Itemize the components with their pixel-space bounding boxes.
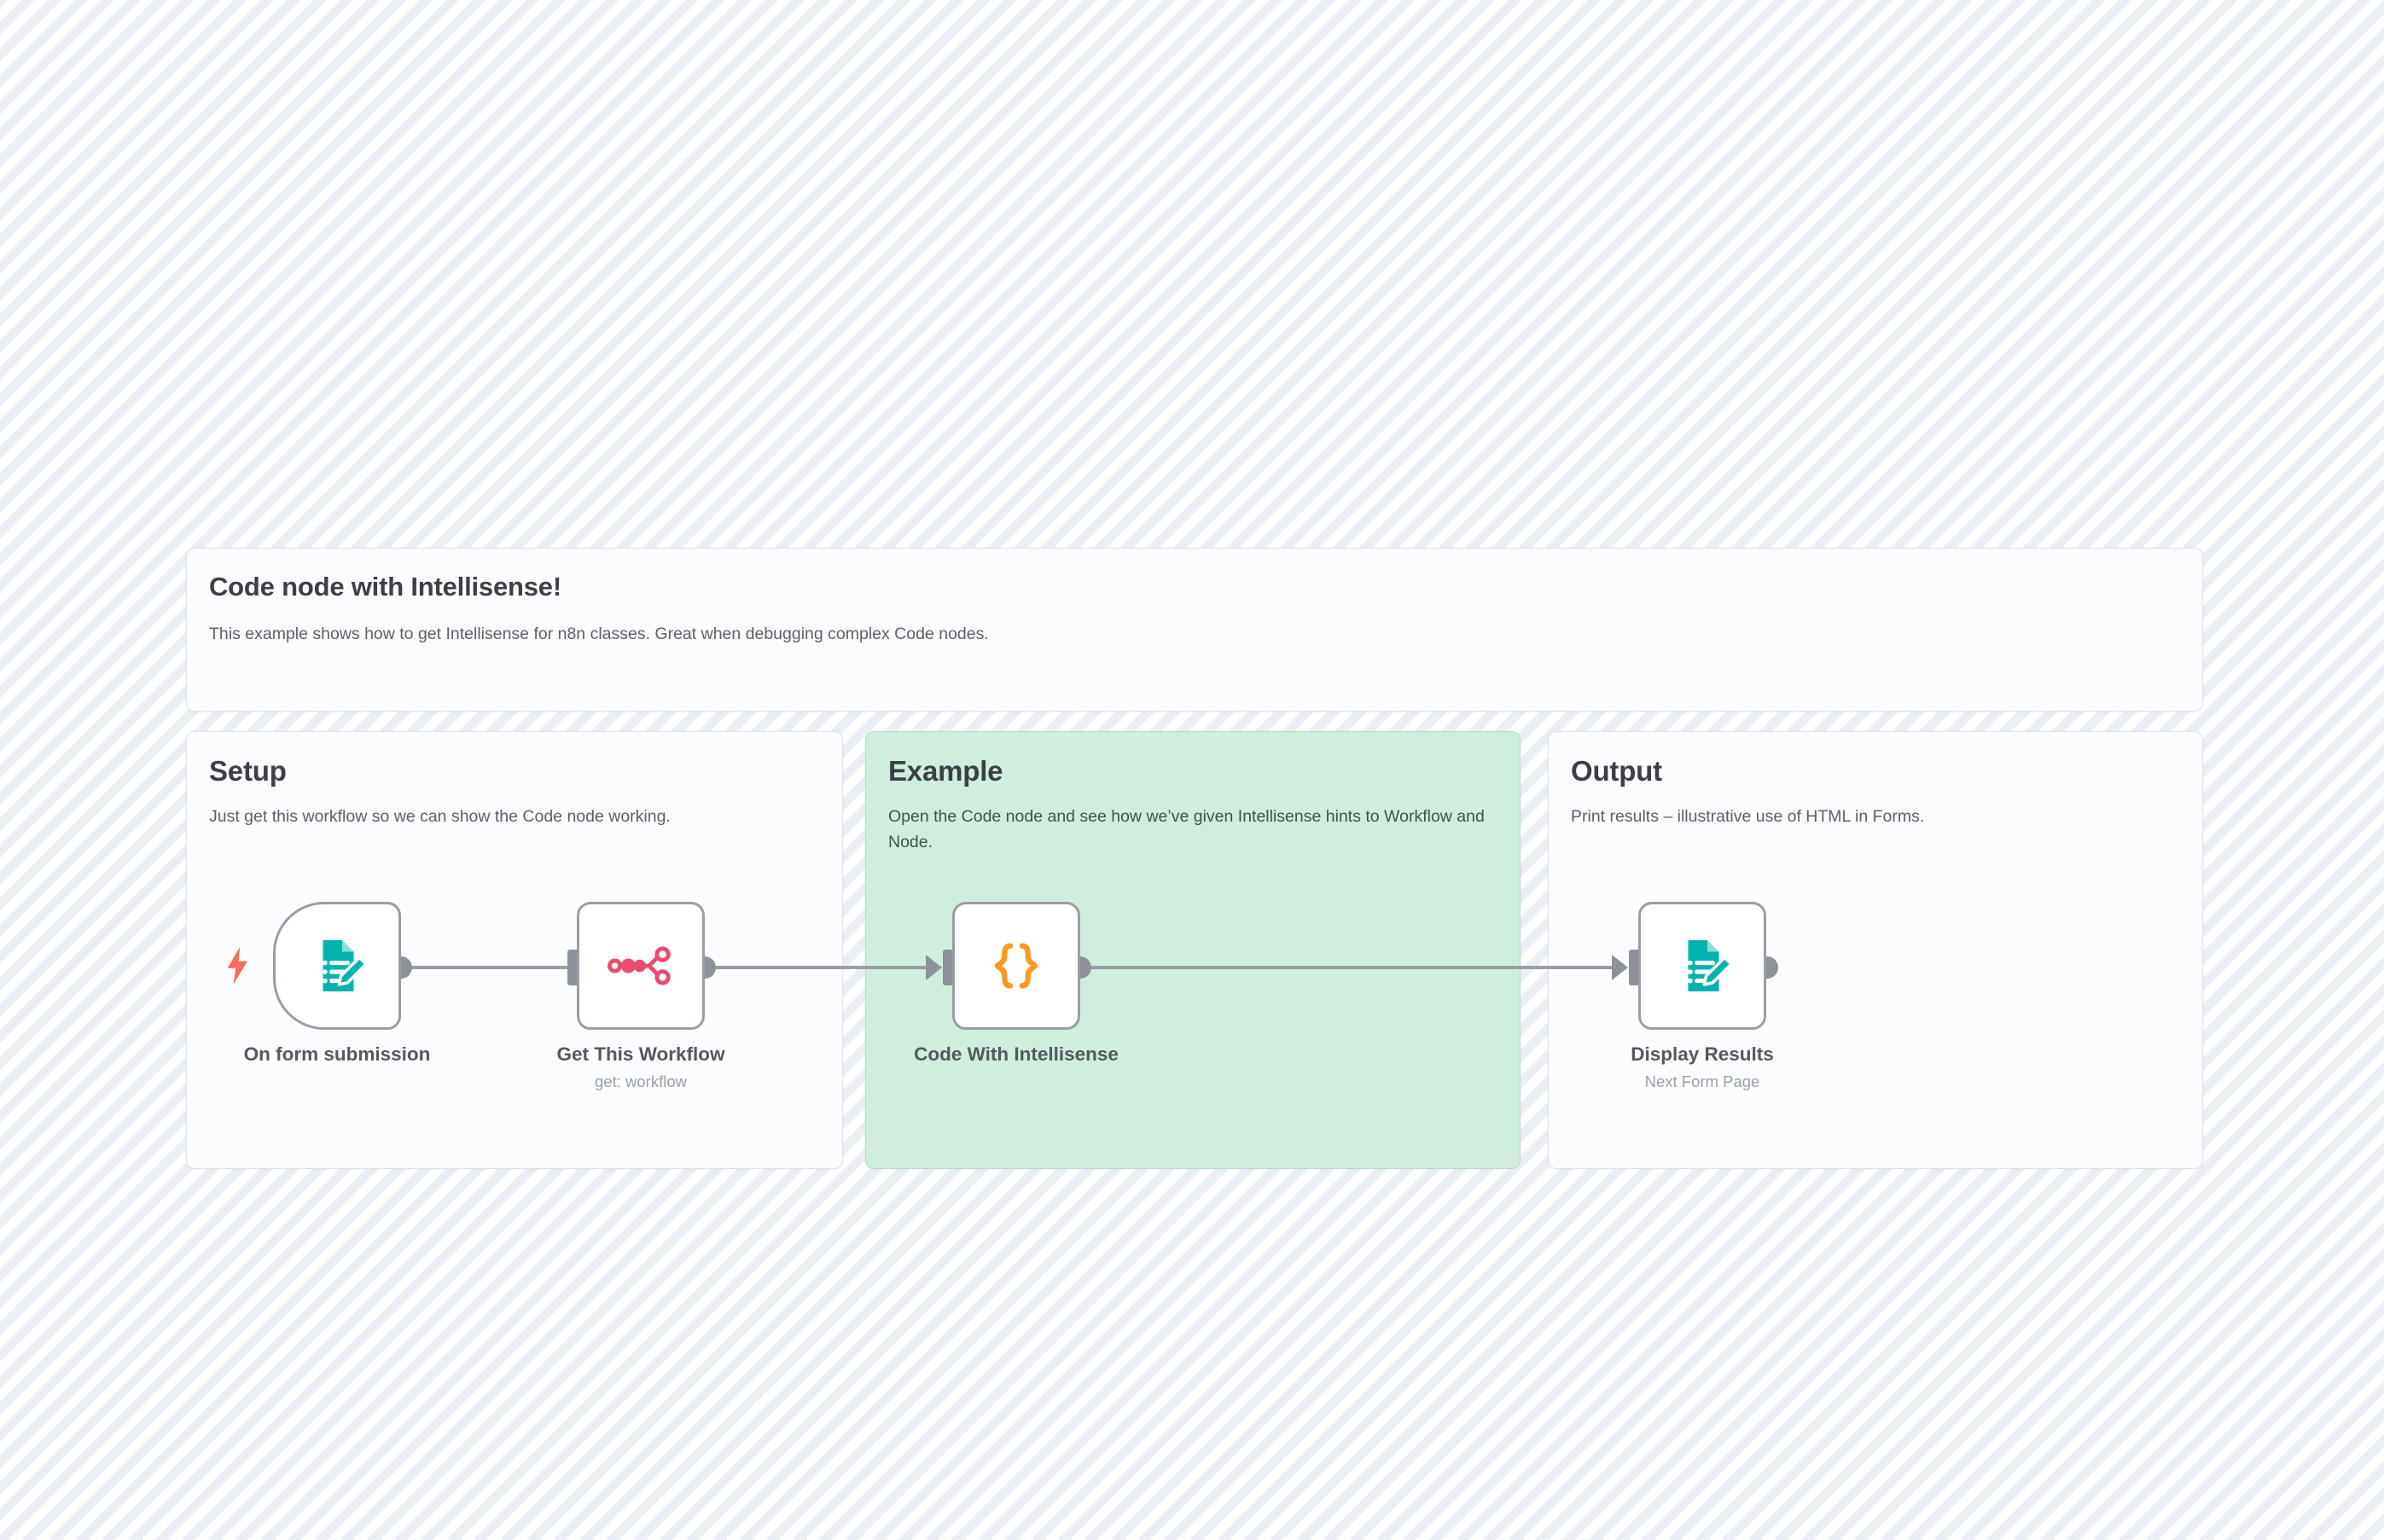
sticky-note-description: Print results – illustrative use of HTML… xyxy=(1571,804,2168,829)
input-connector-arrow xyxy=(926,955,942,980)
lightning-bolt-icon xyxy=(224,947,253,985)
node-caption-display-results: Display Results Next Form Page xyxy=(1515,1043,1890,1091)
connector-line[interactable] xyxy=(1080,966,1614,969)
node-caption-get-this-workflow: Get This Workflow get: workflow xyxy=(453,1043,829,1091)
sticky-note-description: Just get this workflow so we can show th… xyxy=(209,804,806,829)
input-connector-arrow xyxy=(1612,955,1628,980)
sticky-note-title: Setup xyxy=(209,756,820,787)
connector-line[interactable] xyxy=(401,966,586,969)
form-page-icon xyxy=(1672,935,1733,997)
workflow-canvas[interactable]: Code node with Intellisense! This exampl… xyxy=(0,0,2384,1540)
node-display-results[interactable] xyxy=(1638,902,1766,1030)
node-sublabel: get: workflow xyxy=(453,1072,829,1091)
sticky-note-header[interactable]: Code node with Intellisense! This exampl… xyxy=(186,548,2203,712)
node-sublabel: Next Form Page xyxy=(1515,1072,1890,1091)
node-code-with-intellisense[interactable] xyxy=(952,902,1080,1030)
n8n-workflow-icon xyxy=(608,943,674,989)
sticky-note-title: Code node with Intellisense! xyxy=(209,572,2180,602)
node-label: Display Results xyxy=(1515,1043,1890,1066)
form-trigger-icon xyxy=(306,935,368,997)
node-label: Get This Workflow xyxy=(453,1043,829,1066)
sticky-note-title: Example xyxy=(888,756,1497,787)
connector-line[interactable] xyxy=(705,966,927,969)
sticky-note-description: Open the Code node and see how we’ve giv… xyxy=(888,804,1486,855)
sticky-note-description: This example shows how to get Intellisen… xyxy=(209,621,1574,647)
node-caption-code-with-intellisense: Code With Intellisense xyxy=(829,1043,1204,1066)
curly-braces-icon xyxy=(988,938,1044,994)
sticky-note-title: Output xyxy=(1571,756,2180,787)
node-label: Code With Intellisense xyxy=(829,1043,1204,1066)
node-on-form-submission[interactable] xyxy=(273,902,401,1030)
node-get-this-workflow[interactable] xyxy=(577,902,705,1030)
